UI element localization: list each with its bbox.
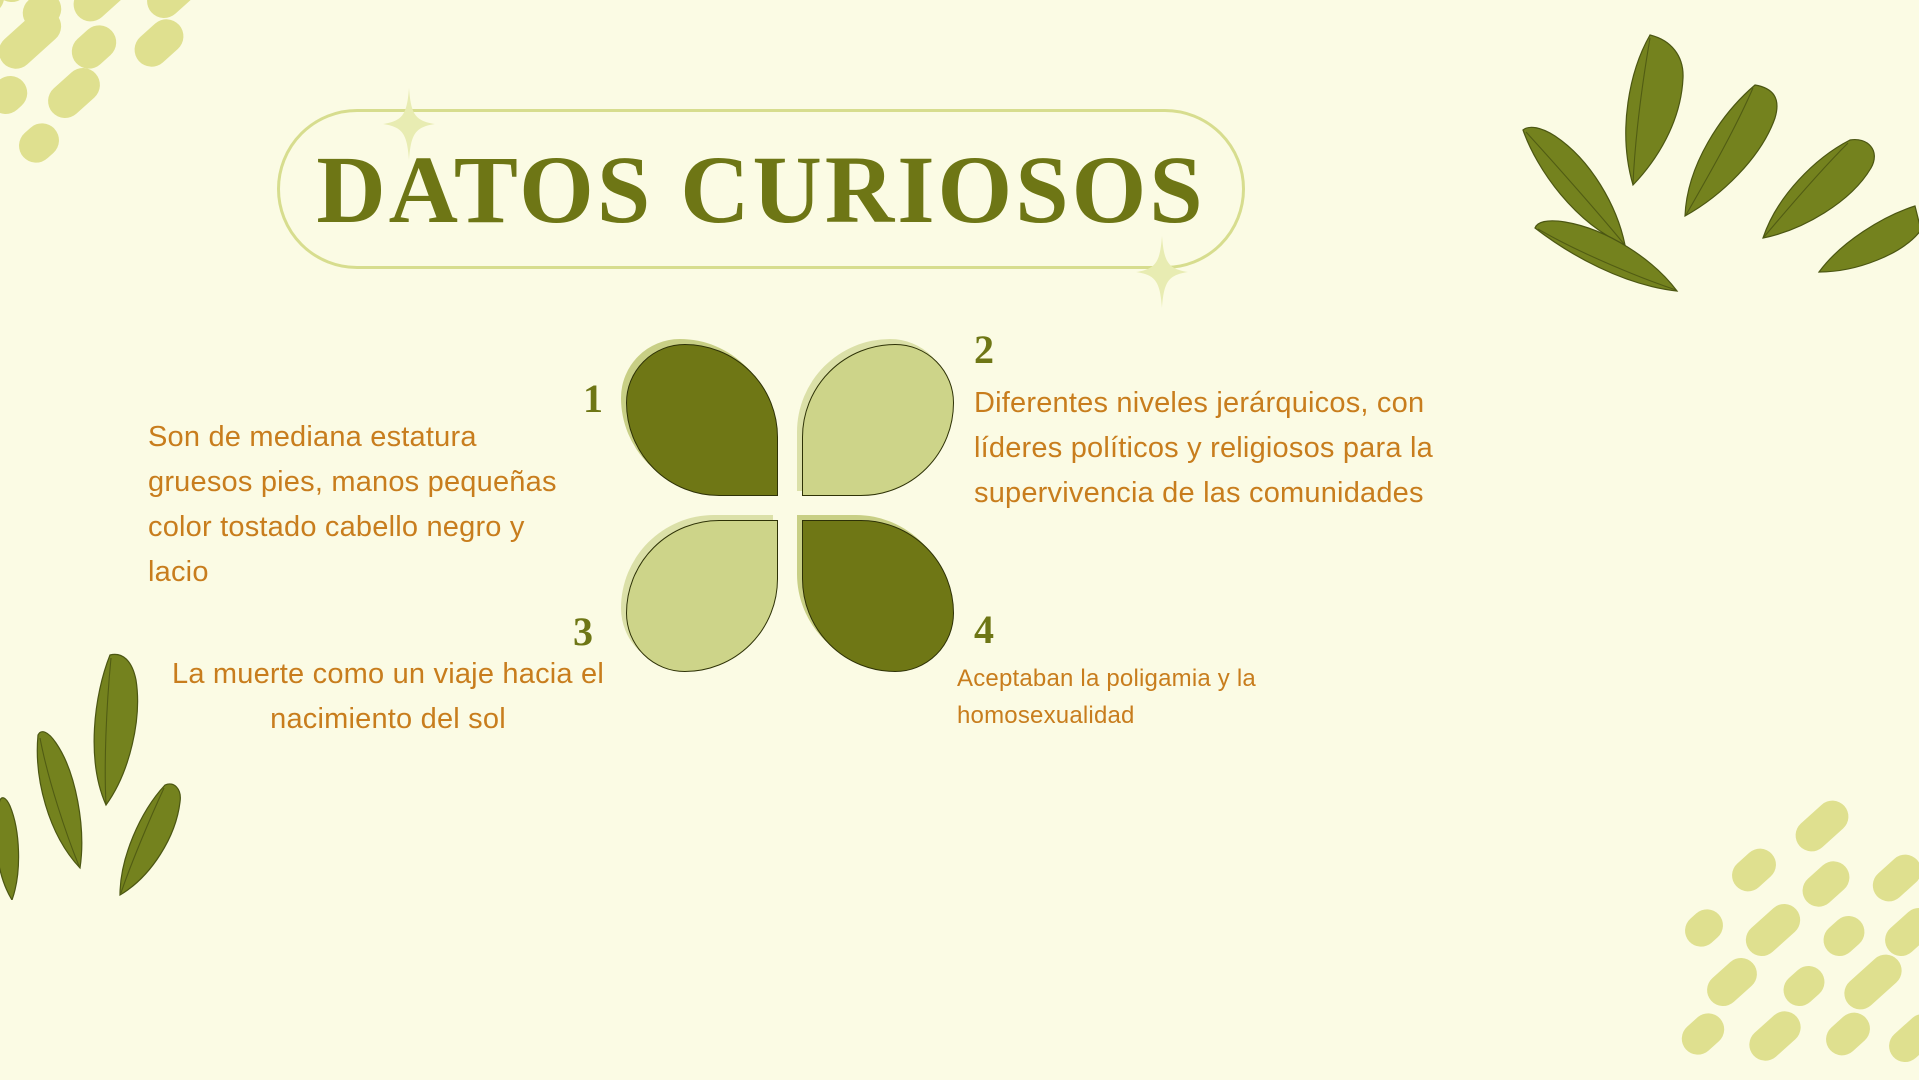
petal-shape <box>802 520 954 672</box>
dash <box>1675 1007 1731 1062</box>
page-title: DATOS CURIOSOS <box>277 108 1245 270</box>
fact-number-2: 2 <box>974 330 994 370</box>
dash <box>41 61 107 125</box>
leaf-branch-bottom-left-icon <box>0 600 320 900</box>
dash <box>128 12 191 73</box>
flower-graphic <box>626 344 954 672</box>
flower-petal-bottom-right <box>802 520 954 672</box>
dash <box>1796 855 1856 914</box>
dash <box>1725 842 1782 898</box>
dash <box>1866 848 1919 908</box>
dash <box>1819 1006 1876 1062</box>
leaf-branch-top-right-icon <box>1395 10 1919 310</box>
dash <box>1700 951 1763 1012</box>
flower-petal-top-right <box>802 344 954 496</box>
fact-number-1: 1 <box>583 379 603 419</box>
dash <box>1678 903 1729 954</box>
dash <box>1817 909 1871 962</box>
petal-shape <box>626 344 778 496</box>
dash <box>1882 1007 1919 1068</box>
dash-pattern-top-left <box>0 0 220 210</box>
dash <box>1739 897 1806 962</box>
dash <box>1743 1005 1808 1068</box>
flower-petal-top-left <box>626 344 778 496</box>
dash <box>65 18 123 75</box>
fact-text-1: Son de mediana estatura gruesos pies, ma… <box>148 415 578 595</box>
slide-canvas: DATOS CURIOSOS 1 Son de mediana estatura… <box>0 0 1919 1080</box>
fact-number-4: 4 <box>974 610 994 650</box>
dash <box>1838 948 1908 1016</box>
dash <box>0 69 34 121</box>
dash-pattern-bottom-right <box>1690 820 1919 1080</box>
flower-petal-bottom-left <box>626 520 778 672</box>
dash <box>1777 959 1831 1012</box>
fact-text-4: Aceptaban la poligamia y la homosexualid… <box>957 660 1317 734</box>
dash <box>12 116 66 169</box>
fact-text-2: Diferentes niveles jerárquicos, con líde… <box>974 381 1434 516</box>
fact-text-3: La muerte como un viaje hacia el nacimie… <box>168 652 608 742</box>
dash <box>1789 794 1855 858</box>
fact-number-3: 3 <box>573 612 593 652</box>
